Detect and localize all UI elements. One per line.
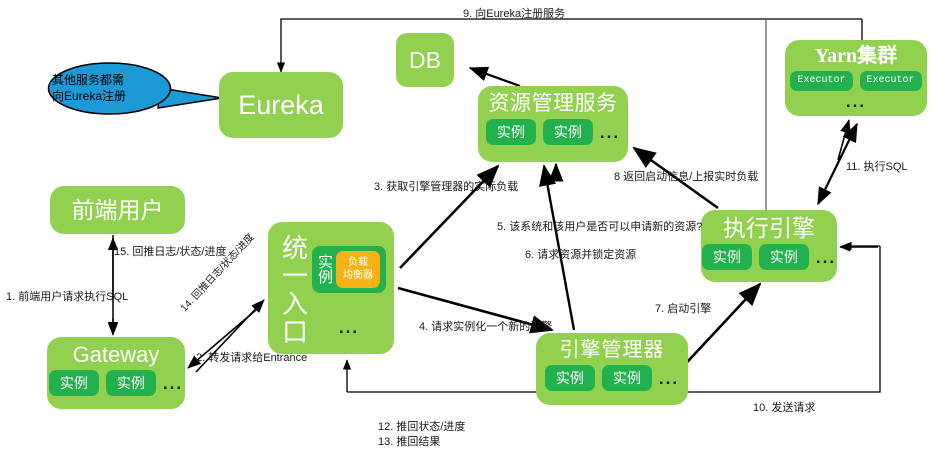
node-resource-manager-title: 资源管理服务 [489, 93, 618, 115]
edge-label-7: 7. 启动引擎 [655, 300, 711, 316]
node-gateway-title: Gateway [73, 343, 160, 366]
executor-box[interactable]: Executor [860, 71, 922, 91]
load-balancer-line-1: 负载 [343, 257, 373, 270]
executor-box[interactable]: Executor [790, 71, 852, 91]
callout-line-1: 其他服务都需 [52, 72, 168, 88]
callout-line-2: 向Eureka注册 [52, 88, 168, 104]
edge-label-4: 4. 请求实例化一个新的引擎 [419, 318, 552, 334]
node-gateway[interactable]: Gateway 实例 实例 ... [47, 337, 185, 409]
instance-label: 实例 [318, 255, 333, 285]
edge-label-8: 8 返回启动信息/上报实时负载 [614, 168, 758, 184]
node-eureka[interactable]: Eureka [219, 72, 343, 138]
more-dots: ... [163, 375, 183, 392]
instance-box[interactable]: 实例 [106, 370, 156, 396]
more-dots: ... [600, 124, 620, 141]
node-yarn-cluster[interactable]: Yarn集群 Executor Executor ... [785, 40, 927, 116]
node-entrance-title: 统一入口 [278, 234, 312, 346]
instance-box[interactable]: 实例 [602, 365, 652, 391]
edge-label-11: 11. 执行SQL [846, 158, 908, 174]
node-eureka-title: Eureka [238, 91, 324, 119]
edge-label-13: 13. 推回结果 [378, 433, 440, 449]
node-execution-engine-title: 执行引擎 [723, 216, 815, 240]
edge-db-resource [470, 68, 520, 86]
edge-register-eureka [281, 19, 862, 72]
instance-box[interactable]: 实例 [49, 370, 99, 396]
instance-box[interactable]: 实例 [543, 119, 593, 145]
more-dots: ... [846, 93, 866, 110]
instance-box[interactable]: 实例 [759, 244, 809, 270]
more-dots: ... [659, 370, 679, 387]
node-execution-engine-instances: 实例 实例 ... [702, 244, 836, 270]
edge-label-6: 6. 请求资源并锁定资源 [525, 246, 636, 262]
instance-box[interactable]: 实例 [545, 365, 595, 391]
edge-label-3: 3. 获取引擎管理器的实际负载 [374, 178, 518, 194]
edge-label-2: 2. 转发请求给Entrance [196, 349, 307, 365]
edge-label-12: 12. 推回状态/进度 [378, 418, 465, 434]
instance-box[interactable]: 实例 [702, 244, 752, 270]
node-frontend-user-title: 前端用户 [72, 198, 164, 222]
instance-box[interactable]: 实例 [486, 119, 536, 145]
node-engine-manager-instances: 实例 实例 ... [545, 365, 679, 391]
edge-enginemgr-engine [676, 284, 760, 374]
node-engine-manager-title: 引擎管理器 [560, 340, 665, 361]
edge-label-14: 14. 回推日志/状态/进度 [176, 229, 257, 314]
node-execution-engine[interactable]: 执行引擎 实例 实例 ... [701, 210, 837, 282]
edge-label-10: 10. 发送请求 [753, 399, 815, 415]
edge-label-9: 9. 向Eureka注册服务 [463, 5, 565, 21]
edge-yarn-bottom [838, 120, 849, 160]
node-db-title: DB [409, 48, 441, 72]
edge-label-1: 1. 前端用户请求执行SQL [6, 288, 128, 304]
node-resource-manager-instances: 实例 实例 ... [486, 119, 620, 145]
load-balancer-line-2: 均衡器 [343, 270, 373, 283]
node-yarn-executors: Executor Executor [790, 71, 921, 91]
diagram-canvas: 其他服务都需 向Eureka注册 Eureka DB 前端用户 Gateway … [0, 0, 937, 458]
more-dots: ... [816, 249, 836, 266]
callout-text: 其他服务都需 向Eureka注册 [52, 72, 168, 104]
node-entrance[interactable]: 统一入口 实例 负载 均衡器 ... [268, 222, 394, 354]
instance-box[interactable]: 实例 负载 均衡器 [312, 246, 386, 293]
node-yarn-cluster-title: Yarn集群 [815, 46, 897, 67]
node-resource-manager[interactable]: 资源管理服务 实例 实例 ... [478, 86, 628, 162]
node-engine-manager[interactable]: 引擎管理器 实例 实例 ... [536, 333, 688, 405]
edge-label-15: 15. 回推日志/状态/进度 [114, 243, 226, 259]
node-frontend-user[interactable]: 前端用户 [50, 186, 185, 234]
load-balancer-box[interactable]: 负载 均衡器 [336, 251, 380, 288]
node-entrance-body: 实例 负载 均衡器 ... [312, 230, 386, 346]
edge-label-5: 5. 该系统和该用户是否可以申请新的资源? [497, 218, 702, 234]
node-db[interactable]: DB [396, 33, 454, 87]
more-dots: ... [339, 319, 359, 336]
node-gateway-instances: 实例 实例 ... [49, 370, 183, 396]
